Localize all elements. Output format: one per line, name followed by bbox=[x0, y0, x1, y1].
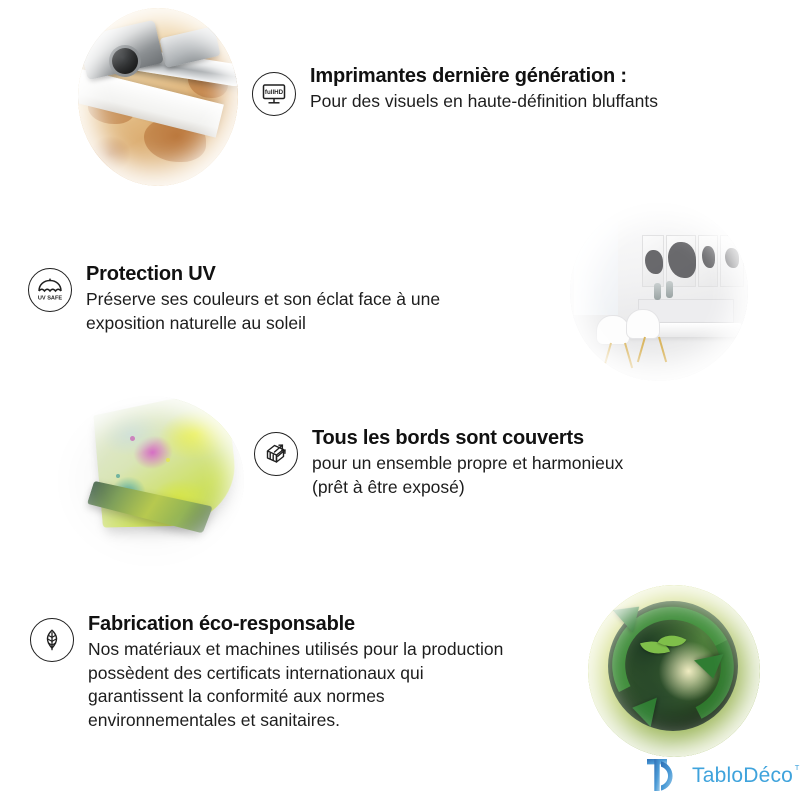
trademark-symbol: TM bbox=[795, 763, 800, 772]
feature-description-line: pour un ensemble propre et harmonieux bbox=[312, 452, 623, 475]
interior-dining-room-photo bbox=[570, 203, 748, 381]
wall-art-ink bbox=[668, 242, 696, 278]
feature-description-line: exposition naturelle au soleil bbox=[86, 312, 440, 335]
eco-globe-recycling-photo bbox=[588, 585, 760, 757]
large-format-printer-photo bbox=[78, 8, 238, 186]
wall-art-panel bbox=[720, 235, 744, 287]
feature-description: Pour des visuels en haute-définition blu… bbox=[310, 90, 658, 113]
wall-art-panel bbox=[642, 235, 664, 287]
decor-vase bbox=[666, 281, 673, 298]
infographic-page: fullHD Imprimantes dernière génération :… bbox=[0, 0, 800, 800]
dining-chair bbox=[626, 309, 660, 339]
uv-safe-umbrella-icon: UV SAFE bbox=[28, 268, 72, 312]
wall-art-ink bbox=[702, 246, 715, 268]
tablodeco-logo[interactable]: TabloDéco TM fr bbox=[645, 757, 800, 795]
feature-uv-protection: UV SAFE Protection UV Préserve ses coule… bbox=[28, 262, 440, 335]
feature-uv-text: Protection UV Préserve ses couleurs et s… bbox=[72, 262, 440, 335]
feature-description-line: Préserve ses couleurs et son éclat face … bbox=[86, 288, 440, 311]
logo-wordmark-text: TabloDéco bbox=[692, 764, 793, 787]
feature-description-line: Nos matériaux et machines utilisés pour … bbox=[88, 638, 503, 661]
wall-art-ink bbox=[645, 250, 663, 274]
logo-wordmark: TabloDéco TM bbox=[692, 764, 793, 788]
paint-speck bbox=[130, 436, 135, 441]
paint-speck bbox=[166, 458, 170, 462]
feature-description-line: Pour des visuels en haute-définition blu… bbox=[310, 90, 658, 113]
printer-roller-hub bbox=[112, 48, 138, 74]
feature-fullhd: fullHD Imprimantes dernière génération :… bbox=[252, 64, 658, 116]
paint-speck bbox=[116, 474, 120, 478]
tablodeco-monogram-icon bbox=[645, 757, 687, 795]
decor-vase bbox=[654, 283, 661, 300]
feature-title: Imprimantes dernière génération : bbox=[310, 64, 658, 88]
feature-title: Protection UV bbox=[86, 262, 440, 286]
feature-title: Fabrication éco-responsable bbox=[88, 612, 503, 636]
feature-description: pour un ensemble propre et harmonieux (p… bbox=[312, 452, 623, 499]
feature-eco-manufacturing: Fabrication éco-responsable Nos matériau… bbox=[30, 612, 503, 732]
feature-description-line: (prêt à être exposé) bbox=[312, 476, 623, 499]
feature-eco-text: Fabrication éco-responsable Nos matériau… bbox=[74, 612, 503, 732]
wall-art-panel bbox=[666, 235, 696, 287]
leaf-eco-icon bbox=[30, 618, 74, 662]
canvas-wrap-edges-icon bbox=[254, 432, 298, 476]
feature-description: Nos matériaux et machines utilisés pour … bbox=[88, 638, 503, 732]
fullhd-monitor-icon: fullHD bbox=[252, 72, 296, 116]
feature-fullhd-text: Imprimantes dernière génération : Pour d… bbox=[296, 64, 658, 114]
svg-text:UV SAFE: UV SAFE bbox=[38, 295, 63, 301]
feature-description-line: garantissent la conformité aux normes bbox=[88, 685, 503, 708]
canvas-wrapped-edge-photo bbox=[58, 396, 244, 566]
wall-art-panel bbox=[698, 235, 718, 287]
feature-covered-edges: Tous les bords sont couverts pour un ens… bbox=[254, 426, 623, 499]
room-window bbox=[574, 219, 618, 315]
feature-description-line: possèdent des certificats internationaux… bbox=[88, 662, 503, 685]
feature-title: Tous les bords sont couverts bbox=[312, 426, 623, 450]
feature-edges-text: Tous les bords sont couverts pour un ens… bbox=[298, 426, 623, 499]
dining-chair bbox=[596, 315, 630, 345]
wall-art-ink bbox=[725, 248, 739, 268]
svg-text:fullHD: fullHD bbox=[265, 89, 284, 96]
feature-description-line: environnementales et sanitaires. bbox=[88, 709, 503, 732]
feature-description: Préserve ses couleurs et son éclat face … bbox=[86, 288, 440, 335]
